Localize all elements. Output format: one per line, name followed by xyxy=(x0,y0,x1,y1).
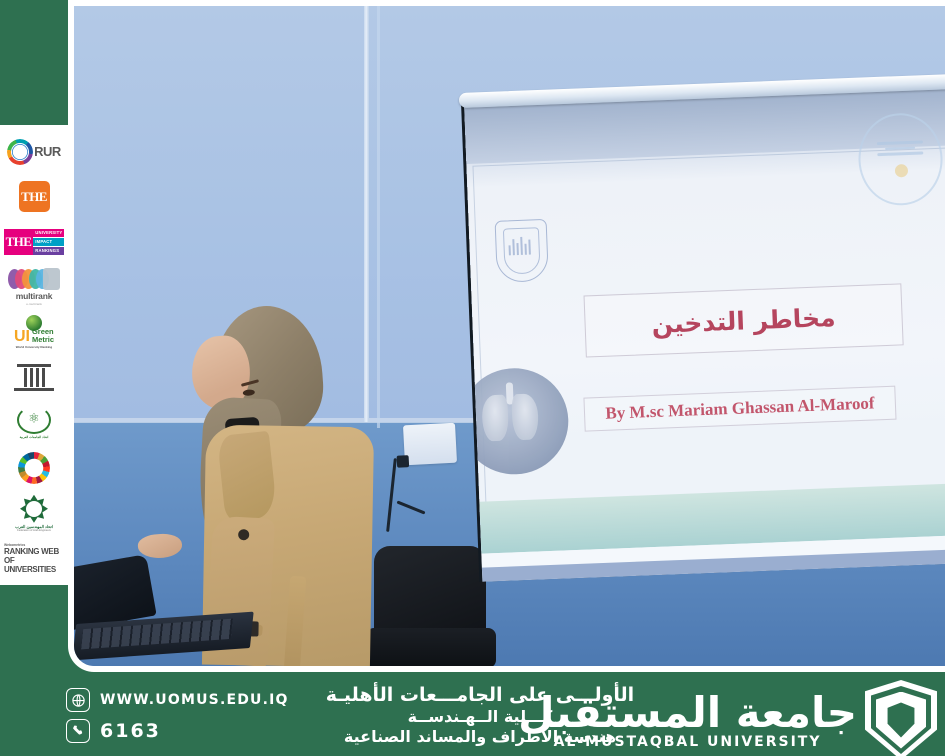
greenmetric-i: I xyxy=(26,330,30,344)
the-impact-label: THE xyxy=(4,229,34,255)
contact-block: WWW.UOMUS.EDU.IQ 6163 xyxy=(66,688,289,743)
eight-point-star-icon xyxy=(20,495,48,523)
greenmetric-line-2: Metric xyxy=(32,336,54,344)
wreath-icon: ⚛ xyxy=(17,406,51,434)
impact-line-2: IMPACT xyxy=(33,238,64,246)
impact-line-3: RANKINGS xyxy=(33,247,64,255)
sdg-wheel-logo xyxy=(4,445,64,490)
university-crest-icon xyxy=(865,680,937,756)
qs-temple-logo xyxy=(4,355,64,400)
federation-arab-engineers-logo: اتحاد المهندسين العرب Federation of Arab… xyxy=(4,491,64,536)
brand-name-arabic: جامعة المستقبل xyxy=(518,690,857,736)
projector-screen: مخاطر التدخين By M.sc Mariam Ghassan Al-… xyxy=(464,83,945,582)
brand-block: جامعة المستقبل AL-MUSTAQBAL UNIVERSITY xyxy=(518,680,937,756)
webometrics-line-2: OF UNIVERSITIES xyxy=(4,556,64,574)
the-impact-rankings-logo: THE UNIVERSITY IMPACT RANKINGS xyxy=(4,219,64,264)
multirank-logo: multirank u-multirank xyxy=(4,265,64,310)
event-photo: مخاطر التدخين By M.sc Mariam Ghassan Al-… xyxy=(74,6,945,666)
fae-caption-en: Federation of Arab Engineers xyxy=(17,529,51,532)
webometrics-line-1: RANKING WEB xyxy=(4,547,59,556)
university-shield-emblem-icon xyxy=(495,219,549,283)
sdg-wheel-icon xyxy=(18,452,50,484)
webometrics-logo: Webometrics RANKING WEB OF UNIVERSITIES xyxy=(4,536,64,581)
the-logo: THE xyxy=(4,174,64,219)
impact-line-1: UNIVERSITY xyxy=(33,229,64,237)
rur-ring-icon xyxy=(7,139,33,165)
presenter-figure xyxy=(152,306,382,666)
the-label: THE xyxy=(19,181,50,212)
rur-logo: RUR xyxy=(4,129,64,174)
ui-greenmetric-logo: U I Green Metric World University Rankin… xyxy=(4,310,64,355)
globe-www-icon xyxy=(66,688,90,712)
phone-icon xyxy=(66,719,90,743)
multirank-sub: u-multirank xyxy=(26,302,42,306)
greenmetric-u: U xyxy=(14,330,26,344)
phone-row[interactable]: 6163 xyxy=(66,719,289,743)
arab-universities-logo: ⚛ اتحاد الجامعات العربية xyxy=(4,400,64,445)
brand-name-english: AL-MUSTAQBAL UNIVERSITY xyxy=(554,734,822,750)
slide-author: By M.sc Mariam Ghassan Al-Maroof xyxy=(605,393,875,423)
event-card: RUR THE THE UNIVERSITY IMPACT RANKINGS xyxy=(0,0,945,756)
temple-icon xyxy=(14,364,54,391)
globe-icon xyxy=(11,143,29,161)
office-chair-seat xyxy=(366,628,496,666)
arab-universities-caption: اتحاد الجامعات العربية xyxy=(20,435,49,439)
phone-number: 6163 xyxy=(100,720,161,742)
multirank-discs-icon xyxy=(8,268,60,290)
slide-title-box: مخاطر التدخين xyxy=(584,283,904,357)
wall-mounted-device xyxy=(403,423,457,466)
slide-title: مخاطر التدخين xyxy=(651,302,836,338)
photo-frame: مخاطر التدخين By M.sc Mariam Ghassan Al-… xyxy=(68,0,945,672)
greenmetric-sub: World University Ranking xyxy=(16,345,52,349)
multirank-label: multirank xyxy=(16,291,52,301)
rur-label: RUR xyxy=(34,144,61,159)
rankings-strip: RUR THE THE UNIVERSITY IMPACT RANKINGS xyxy=(0,125,68,585)
website-row[interactable]: WWW.UOMUS.EDU.IQ xyxy=(66,688,289,712)
website-url: WWW.UOMUS.EDU.IQ xyxy=(100,692,289,708)
